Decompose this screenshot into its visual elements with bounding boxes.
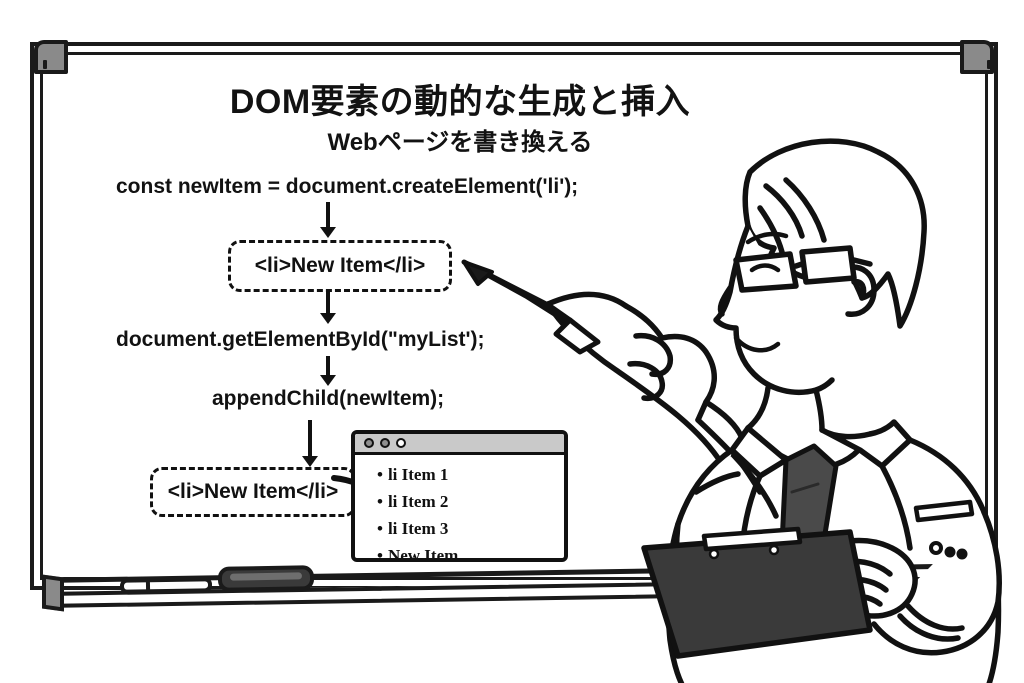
arrow-down-icon — [320, 292, 336, 324]
whiteboard-corner-top-right — [960, 40, 994, 74]
instructor-figure — [430, 120, 1024, 683]
element-preview-box-top: <li>New Item</li> — [228, 240, 452, 292]
element-preview-box-bottom: <li>New Item</li> — [150, 467, 356, 517]
screw-icon — [987, 60, 991, 69]
window-dot-maximize — [396, 438, 406, 448]
window-dot-close — [364, 438, 374, 448]
whiteboard-corner-top-left — [34, 40, 68, 74]
arrow-down-icon — [302, 420, 318, 468]
window-dot-minimize — [380, 438, 390, 448]
marker-cap — [146, 578, 150, 593]
eraser-icon — [218, 565, 314, 592]
eraser-highlight — [230, 572, 302, 580]
arrow-down-icon — [320, 356, 336, 386]
whiteboard-tray-end-cap — [42, 574, 64, 611]
marker-icon — [120, 577, 212, 594]
arrow-down-icon — [320, 202, 336, 238]
page-title: DOM要素の動的な生成と挿入 — [0, 74, 920, 123]
screw-icon — [43, 60, 47, 69]
illustration-scene: DOM要素の動的な生成と挿入 Webページを書き換える const newIte… — [0, 0, 1024, 683]
code-line-append-child: appendChild(newItem); — [212, 387, 444, 411]
